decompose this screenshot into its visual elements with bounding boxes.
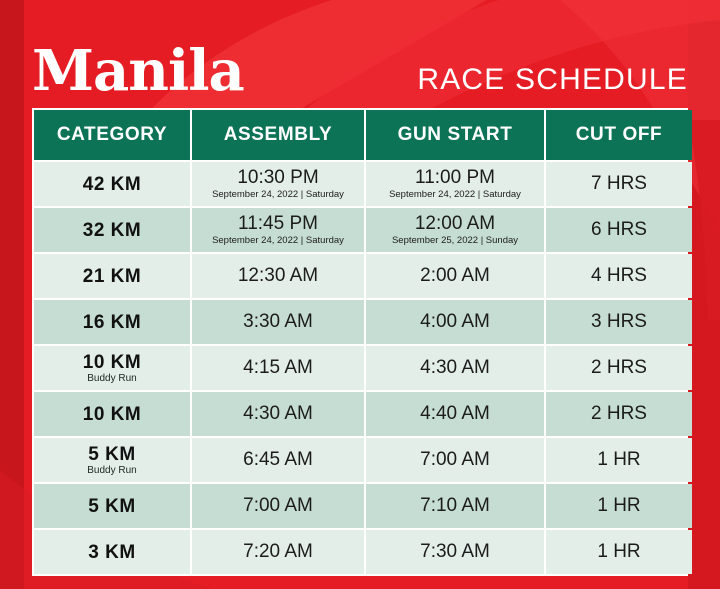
assembly-stack: 12:30 AM [192,265,364,287]
cut-off-duration: 3 HRS [546,311,692,333]
assembly-date: September 24, 2022 | Saturday [212,235,344,247]
schedule-table: CATEGORY ASSEMBLY GUN START CUT OFF 42 K… [32,108,694,576]
assembly-time: 10:30 PM [237,167,318,189]
assembly-date: September 24, 2022 | Saturday [212,189,344,201]
cut-off-duration: 4 HRS [546,265,692,287]
cell-gun-start: 11:00 PMSeptember 24, 2022 | Saturday [366,162,544,206]
cell-category: 10 KM [34,392,190,436]
category-stack: 16 KM [34,312,190,333]
category-stack: 5 KMBuddy Run [34,444,190,477]
gun-start-stack: 7:30 AM [366,541,544,563]
cell-category: 21 KM [34,254,190,298]
table-row: 32 KM11:45 PMSeptember 24, 2022 | Saturd… [34,208,692,252]
table-row: 42 KM10:30 PMSeptember 24, 2022 | Saturd… [34,162,692,206]
gun-start-time: 11:00 PM [415,167,495,189]
gun-start-stack: 2:00 AM [366,265,544,287]
cell-assembly: 11:45 PMSeptember 24, 2022 | Saturday [192,208,364,252]
cell-gun-start: 4:00 AM [366,300,544,344]
cell-assembly: 4:30 AM [192,392,364,436]
category-stack: 21 KM [34,266,190,287]
table-row: 5 KM7:00 AM7:10 AM1 HR [34,484,692,528]
assembly-stack: 4:15 AM [192,357,364,379]
cell-cut-off: 2 HRS [546,346,692,390]
assembly-time: 4:30 AM [243,403,313,425]
column-header-cut-off: CUT OFF [546,110,692,160]
gun-start-stack: 12:00 AMSeptember 25, 2022 | Sunday [366,213,544,247]
gun-start-date: September 24, 2022 | Saturday [389,189,521,201]
assembly-stack: 10:30 PMSeptember 24, 2022 | Saturday [192,167,364,201]
cell-category: 10 KMBuddy Run [34,346,190,390]
cell-category: 32 KM [34,208,190,252]
assembly-time: 12:30 AM [238,265,318,287]
category-subtitle: Buddy Run [87,465,136,477]
category-distance: 42 KM [83,174,141,195]
gun-start-date: September 25, 2022 | Sunday [392,235,518,247]
gun-start-time: 4:00 AM [420,311,490,333]
cell-cut-off: 7 HRS [546,162,692,206]
assembly-time: 4:15 AM [243,357,313,379]
gun-start-stack: 7:10 AM [366,495,544,517]
cut-off-duration: 2 HRS [546,357,692,379]
gun-start-stack: 11:00 PMSeptember 24, 2022 | Saturday [366,167,544,201]
gun-start-time: 12:00 AM [415,213,495,235]
category-distance: 32 KM [83,220,141,241]
gun-start-stack: 7:00 AM [366,449,544,471]
assembly-time: 7:00 AM [243,495,313,517]
table-head: CATEGORY ASSEMBLY GUN START CUT OFF [34,110,692,160]
gun-start-time: 7:00 AM [420,449,490,471]
cell-assembly: 7:00 AM [192,484,364,528]
poster-header: Manila RACE SCHEDULE [32,18,688,100]
column-header-category: CATEGORY [34,110,190,160]
category-subtitle: Buddy Run [87,373,136,385]
cut-off-duration: 2 HRS [546,403,692,425]
table-row: 10 KM4:30 AM4:40 AM2 HRS [34,392,692,436]
assembly-stack: 6:45 AM [192,449,364,471]
cell-assembly: 4:15 AM [192,346,364,390]
cell-cut-off: 4 HRS [546,254,692,298]
cell-assembly: 3:30 AM [192,300,364,344]
table-row: 3 KM7:20 AM7:30 AM1 HR [34,530,692,574]
cell-assembly: 6:45 AM [192,438,364,482]
cut-off-duration: 6 HRS [546,219,692,241]
cell-gun-start: 2:00 AM [366,254,544,298]
cell-cut-off: 1 HR [546,530,692,574]
cut-off-duration: 1 HR [546,449,692,471]
cut-off-duration: 1 HR [546,495,692,517]
cut-off-duration: 7 HRS [546,173,692,195]
table-row: 5 KMBuddy Run6:45 AM7:00 AM1 HR [34,438,692,482]
schedule-table-frame: CATEGORY ASSEMBLY GUN START CUT OFF 42 K… [32,108,688,576]
category-distance: 3 KM [88,542,135,563]
category-distance: 5 KM [88,444,135,465]
assembly-stack: 7:20 AM [192,541,364,563]
cell-assembly: 10:30 PMSeptember 24, 2022 | Saturday [192,162,364,206]
cell-cut-off: 3 HRS [546,300,692,344]
table-body: 42 KM10:30 PMSeptember 24, 2022 | Saturd… [34,162,692,574]
assembly-time: 11:45 PM [238,213,318,235]
assembly-stack: 7:00 AM [192,495,364,517]
cell-category: 3 KM [34,530,190,574]
category-stack: 3 KM [34,542,190,563]
cell-gun-start: 7:00 AM [366,438,544,482]
gun-start-stack: 4:40 AM [366,403,544,425]
cell-assembly: 12:30 AM [192,254,364,298]
cut-off-duration: 1 HR [546,541,692,563]
gun-start-stack: 4:00 AM [366,311,544,333]
table-row: 10 KMBuddy Run4:15 AM4:30 AM2 HRS [34,346,692,390]
category-distance: 21 KM [83,266,141,287]
cell-gun-start: 4:30 AM [366,346,544,390]
table-header-row: CATEGORY ASSEMBLY GUN START CUT OFF [34,110,692,160]
column-header-gun-start: GUN START [366,110,544,160]
cell-assembly: 7:20 AM [192,530,364,574]
assembly-stack: 11:45 PMSeptember 24, 2022 | Saturday [192,213,364,247]
gun-start-time: 2:00 AM [420,265,490,287]
category-stack: 10 KMBuddy Run [34,352,190,385]
category-stack: 5 KM [34,496,190,517]
gun-start-time: 4:40 AM [420,403,490,425]
gun-start-time: 4:30 AM [420,357,490,379]
category-stack: 10 KM [34,404,190,425]
page-title: Manila [32,42,244,100]
page-subtitle: RACE SCHEDULE [417,64,688,100]
cell-gun-start: 7:30 AM [366,530,544,574]
category-distance: 16 KM [83,312,141,333]
assembly-stack: 4:30 AM [192,403,364,425]
category-stack: 42 KM [34,174,190,195]
cell-category: 5 KM [34,484,190,528]
column-header-assembly: ASSEMBLY [192,110,364,160]
assembly-time: 3:30 AM [243,311,313,333]
gun-start-time: 7:10 AM [420,495,490,517]
gun-start-time: 7:30 AM [420,541,490,563]
category-distance: 5 KM [88,496,135,517]
category-stack: 32 KM [34,220,190,241]
table-row: 16 KM3:30 AM4:00 AM3 HRS [34,300,692,344]
cell-category: 5 KMBuddy Run [34,438,190,482]
cell-gun-start: 7:10 AM [366,484,544,528]
cell-gun-start: 12:00 AMSeptember 25, 2022 | Sunday [366,208,544,252]
cell-cut-off: 1 HR [546,438,692,482]
assembly-stack: 3:30 AM [192,311,364,333]
cell-cut-off: 2 HRS [546,392,692,436]
assembly-time: 7:20 AM [243,541,313,563]
assembly-time: 6:45 AM [243,449,313,471]
cell-cut-off: 6 HRS [546,208,692,252]
cell-category: 42 KM [34,162,190,206]
cell-cut-off: 1 HR [546,484,692,528]
race-schedule-poster: Manila RACE SCHEDULE CATEGORY ASSEMBLY G… [0,0,720,589]
gun-start-stack: 4:30 AM [366,357,544,379]
category-distance: 10 KM [83,352,141,373]
cell-category: 16 KM [34,300,190,344]
cell-gun-start: 4:40 AM [366,392,544,436]
table-row: 21 KM12:30 AM2:00 AM4 HRS [34,254,692,298]
category-distance: 10 KM [83,404,141,425]
